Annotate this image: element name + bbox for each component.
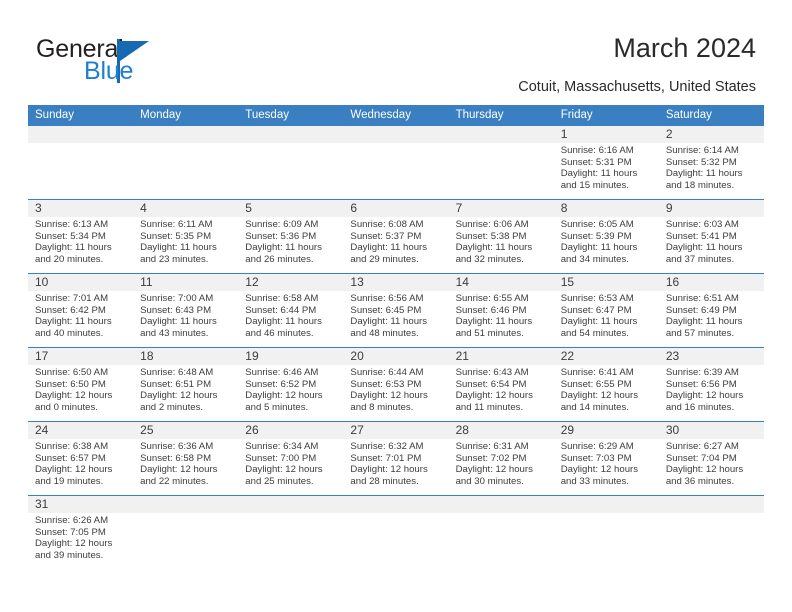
calendar-day-cell[interactable]: 16Sunrise: 6:51 AMSunset: 6:49 PMDayligh… [659,274,764,347]
calendar-day-cell[interactable]: 3Sunrise: 6:13 AMSunset: 5:34 PMDaylight… [28,200,133,273]
page-header: General Blue March 2024 Cotuit, Massachu… [0,0,792,104]
daylight-text: and 36 minutes. [666,476,758,488]
sunrise-text: Sunrise: 6:34 AM [245,441,337,453]
daylight-text: Daylight: 12 hours [350,464,442,476]
sunrise-text: Sunrise: 6:50 AM [35,367,127,379]
calendar-day-cell[interactable]: 23Sunrise: 6:39 AMSunset: 6:56 PMDayligh… [659,348,764,421]
daylight-text: and 14 minutes. [561,402,653,414]
daylight-text: and 18 minutes. [666,180,758,192]
day-number [140,496,232,513]
day-header-saturday: Saturday [659,105,764,126]
day-header-monday: Monday [133,105,238,126]
daylight-text: Daylight: 12 hours [350,390,442,402]
sunrise-text: Sunrise: 6:31 AM [456,441,548,453]
sunset-text: Sunset: 6:52 PM [245,379,337,391]
calendar-cell-empty [554,496,659,574]
sunset-text: Sunset: 5:41 PM [666,231,758,243]
daylight-text: and 15 minutes. [561,180,653,192]
daylight-text: and 19 minutes. [35,476,127,488]
sunset-text: Sunset: 6:45 PM [350,305,442,317]
sunset-text: Sunset: 6:43 PM [140,305,232,317]
day-number [456,496,548,513]
daylight-text: Daylight: 12 hours [245,464,337,476]
daylight-text: and 54 minutes. [561,328,653,340]
daylight-text: and 32 minutes. [456,254,548,266]
daylight-text: Daylight: 11 hours [350,242,442,254]
daylight-text: Daylight: 11 hours [666,316,758,328]
calendar-page: General Blue March 2024 Cotuit, Massachu… [0,0,792,612]
calendar-day-cell[interactable]: 30Sunrise: 6:27 AMSunset: 7:04 PMDayligh… [659,422,764,495]
sunrise-text: Sunrise: 7:00 AM [140,293,232,305]
sunset-text: Sunset: 5:32 PM [666,157,758,169]
daylight-text: Daylight: 11 hours [456,242,548,254]
calendar-cell-empty [343,496,448,574]
daylight-text: and 43 minutes. [140,328,232,340]
calendar-day-cell[interactable]: 14Sunrise: 6:55 AMSunset: 6:46 PMDayligh… [449,274,554,347]
daylight-text: Daylight: 11 hours [666,242,758,254]
daylight-text: and 5 minutes. [245,402,337,414]
sunset-text: Sunset: 6:53 PM [350,379,442,391]
sunset-text: Sunset: 6:47 PM [561,305,653,317]
sunrise-text: Sunrise: 6:13 AM [35,219,127,231]
sunrise-text: Sunrise: 6:43 AM [456,367,548,379]
day-number: 28 [456,422,548,439]
calendar-day-cell[interactable]: 9Sunrise: 6:03 AMSunset: 5:41 PMDaylight… [659,200,764,273]
daylight-text: Daylight: 11 hours [245,316,337,328]
calendar-day-cell[interactable]: 15Sunrise: 6:53 AMSunset: 6:47 PMDayligh… [554,274,659,347]
calendar-day-cell[interactable]: 28Sunrise: 6:31 AMSunset: 7:02 PMDayligh… [449,422,554,495]
daylight-text: and 8 minutes. [350,402,442,414]
calendar-day-cell[interactable]: 1Sunrise: 6:16 AMSunset: 5:31 PMDaylight… [554,126,659,199]
sunrise-text: Sunrise: 6:48 AM [140,367,232,379]
daylight-text: Daylight: 11 hours [35,242,127,254]
day-number: 25 [140,422,232,439]
general-blue-logo[interactable]: General Blue [36,36,236,88]
sunrise-text: Sunrise: 6:03 AM [666,219,758,231]
sunrise-text: Sunrise: 6:46 AM [245,367,337,379]
daylight-text: Daylight: 11 hours [561,316,653,328]
daylight-text: Daylight: 11 hours [350,316,442,328]
day-number: 30 [666,422,758,439]
daylight-text: and 51 minutes. [456,328,548,340]
sunset-text: Sunset: 6:58 PM [140,453,232,465]
sunset-text: Sunset: 7:03 PM [561,453,653,465]
sunrise-text: Sunrise: 6:32 AM [350,441,442,453]
sunset-text: Sunset: 6:56 PM [666,379,758,391]
day-number: 9 [666,200,758,217]
day-number: 22 [561,348,653,365]
sunset-text: Sunset: 7:01 PM [350,453,442,465]
day-number: 7 [456,200,548,217]
sunset-text: Sunset: 7:04 PM [666,453,758,465]
daylight-text: Daylight: 12 hours [666,390,758,402]
calendar-day-cell[interactable]: 5Sunrise: 6:09 AMSunset: 5:36 PMDaylight… [238,200,343,273]
day-number: 8 [561,200,653,217]
day-number [245,496,337,513]
day-number: 2 [666,126,758,143]
calendar-cell-empty [133,126,238,199]
calendar-day-cell[interactable]: 8Sunrise: 6:05 AMSunset: 5:39 PMDaylight… [554,200,659,273]
day-of-week-header-row: SundayMondayTuesdayWednesdayThursdayFrid… [28,105,764,126]
day-number: 12 [245,274,337,291]
calendar-week-row: 3Sunrise: 6:13 AMSunset: 5:34 PMDaylight… [28,199,764,273]
daylight-text: and 26 minutes. [245,254,337,266]
sunrise-text: Sunrise: 6:51 AM [666,293,758,305]
day-number [456,126,548,143]
daylight-text: and 33 minutes. [561,476,653,488]
day-number: 29 [561,422,653,439]
calendar-day-cell[interactable]: 17Sunrise: 6:50 AMSunset: 6:50 PMDayligh… [28,348,133,421]
daylight-text: Daylight: 12 hours [140,464,232,476]
day-number [666,496,758,513]
daylight-text: Daylight: 12 hours [561,390,653,402]
day-number: 18 [140,348,232,365]
sunrise-text: Sunrise: 6:27 AM [666,441,758,453]
sunrise-text: Sunrise: 6:06 AM [456,219,548,231]
calendar-weeks: 1Sunrise: 6:16 AMSunset: 5:31 PMDaylight… [28,126,764,574]
daylight-text: Daylight: 12 hours [456,390,548,402]
calendar-day-cell[interactable]: 27Sunrise: 6:32 AMSunset: 7:01 PMDayligh… [343,422,448,495]
calendar-day-cell[interactable]: 19Sunrise: 6:46 AMSunset: 6:52 PMDayligh… [238,348,343,421]
daylight-text: Daylight: 12 hours [35,464,127,476]
sunset-text: Sunset: 6:46 PM [456,305,548,317]
daylight-text: Daylight: 12 hours [140,390,232,402]
daylight-text: Daylight: 12 hours [35,390,127,402]
sunset-text: Sunset: 5:39 PM [561,231,653,243]
daylight-text: Daylight: 12 hours [35,538,127,550]
daylight-text: and 39 minutes. [35,550,127,562]
day-number: 5 [245,200,337,217]
day-number [35,126,127,143]
calendar-day-cell[interactable]: 2Sunrise: 6:14 AMSunset: 5:32 PMDaylight… [659,126,764,199]
sunrise-text: Sunrise: 6:11 AM [140,219,232,231]
sunrise-text: Sunrise: 6:53 AM [561,293,653,305]
daylight-text: Daylight: 11 hours [561,168,653,180]
sunset-text: Sunset: 6:50 PM [35,379,127,391]
sunset-text: Sunset: 6:51 PM [140,379,232,391]
calendar-cell-empty [449,496,554,574]
daylight-text: and 46 minutes. [245,328,337,340]
daylight-text: and 16 minutes. [666,402,758,414]
day-header-wednesday: Wednesday [343,105,448,126]
sunrise-text: Sunrise: 7:01 AM [35,293,127,305]
sunset-text: Sunset: 6:54 PM [456,379,548,391]
daylight-text: and 28 minutes. [350,476,442,488]
day-number: 15 [561,274,653,291]
calendar-day-cell[interactable]: 25Sunrise: 6:36 AMSunset: 6:58 PMDayligh… [133,422,238,495]
sunrise-text: Sunrise: 6:05 AM [561,219,653,231]
sunset-text: Sunset: 6:49 PM [666,305,758,317]
sunset-text: Sunset: 5:35 PM [140,231,232,243]
daylight-text: Daylight: 11 hours [140,242,232,254]
calendar-day-cell[interactable]: 18Sunrise: 6:48 AMSunset: 6:51 PMDayligh… [133,348,238,421]
sunrise-text: Sunrise: 6:58 AM [245,293,337,305]
calendar-day-cell[interactable]: 26Sunrise: 6:34 AMSunset: 7:00 PMDayligh… [238,422,343,495]
calendar-day-cell[interactable]: 29Sunrise: 6:29 AMSunset: 7:03 PMDayligh… [554,422,659,495]
calendar-day-cell[interactable]: 7Sunrise: 6:06 AMSunset: 5:38 PMDaylight… [449,200,554,273]
daylight-text: and 48 minutes. [350,328,442,340]
sunrise-text: Sunrise: 6:09 AM [245,219,337,231]
day-number: 23 [666,348,758,365]
daylight-text: Daylight: 11 hours [140,316,232,328]
sunrise-text: Sunrise: 6:55 AM [456,293,548,305]
calendar-cell-empty [133,496,238,574]
day-header-tuesday: Tuesday [238,105,343,126]
calendar-week-row: 1Sunrise: 6:16 AMSunset: 5:31 PMDaylight… [28,126,764,199]
calendar-day-cell[interactable]: 12Sunrise: 6:58 AMSunset: 6:44 PMDayligh… [238,274,343,347]
sunset-text: Sunset: 5:31 PM [561,157,653,169]
day-number: 11 [140,274,232,291]
day-number [561,496,653,513]
day-number: 6 [350,200,442,217]
daylight-text: and 29 minutes. [350,254,442,266]
daylight-text: and 30 minutes. [456,476,548,488]
daylight-text: and 25 minutes. [245,476,337,488]
sunset-text: Sunset: 5:38 PM [456,231,548,243]
sunset-text: Sunset: 6:55 PM [561,379,653,391]
daylight-text: and 20 minutes. [35,254,127,266]
sunrise-text: Sunrise: 6:36 AM [140,441,232,453]
sunset-text: Sunset: 7:00 PM [245,453,337,465]
day-number: 14 [456,274,548,291]
calendar-week-row: 10Sunrise: 7:01 AMSunset: 6:42 PMDayligh… [28,273,764,347]
daylight-text: and 0 minutes. [35,402,127,414]
sunrise-text: Sunrise: 6:38 AM [35,441,127,453]
calendar-day-cell[interactable]: 24Sunrise: 6:38 AMSunset: 6:57 PMDayligh… [28,422,133,495]
calendar-cell-empty [449,126,554,199]
sunset-text: Sunset: 6:42 PM [35,305,127,317]
day-number [245,126,337,143]
logo-text-blue: Blue [84,58,133,84]
sunrise-text: Sunrise: 6:16 AM [561,145,653,157]
calendar-cell-empty [238,126,343,199]
daylight-text: Daylight: 11 hours [35,316,127,328]
day-number: 4 [140,200,232,217]
day-number: 10 [35,274,127,291]
daylight-text: and 37 minutes. [666,254,758,266]
day-number: 1 [561,126,653,143]
sunrise-text: Sunrise: 6:26 AM [35,515,127,527]
calendar-week-row: 24Sunrise: 6:38 AMSunset: 6:57 PMDayligh… [28,421,764,495]
day-number: 19 [245,348,337,365]
day-number: 31 [35,496,127,513]
sunset-text: Sunset: 5:34 PM [35,231,127,243]
daylight-text: Daylight: 12 hours [561,464,653,476]
day-header-friday: Friday [554,105,659,126]
sunset-text: Sunset: 5:36 PM [245,231,337,243]
daylight-text: and 2 minutes. [140,402,232,414]
daylight-text: and 11 minutes. [456,402,548,414]
calendar-day-cell[interactable]: 6Sunrise: 6:08 AMSunset: 5:37 PMDaylight… [343,200,448,273]
sunset-text: Sunset: 7:02 PM [456,453,548,465]
sunrise-text: Sunrise: 6:41 AM [561,367,653,379]
calendar-week-row: 31Sunrise: 6:26 AMSunset: 7:05 PMDayligh… [28,495,764,574]
day-number: 3 [35,200,127,217]
sunrise-text: Sunrise: 6:14 AM [666,145,758,157]
calendar-cell-empty [659,496,764,574]
daylight-text: and 34 minutes. [561,254,653,266]
calendar-table: SundayMondayTuesdayWednesdayThursdayFrid… [28,105,764,574]
daylight-text: and 40 minutes. [35,328,127,340]
day-number: 16 [666,274,758,291]
day-number [140,126,232,143]
sunrise-text: Sunrise: 6:44 AM [350,367,442,379]
day-number [350,126,442,143]
sunrise-text: Sunrise: 6:08 AM [350,219,442,231]
daylight-text: Daylight: 11 hours [561,242,653,254]
daylight-text: Daylight: 11 hours [245,242,337,254]
day-number: 26 [245,422,337,439]
page-subtitle: Cotuit, Massachusetts, United States [518,79,756,95]
daylight-text: and 22 minutes. [140,476,232,488]
day-header-thursday: Thursday [449,105,554,126]
day-number [350,496,442,513]
day-header-sunday: Sunday [28,105,133,126]
sunset-text: Sunset: 7:05 PM [35,527,127,539]
day-number: 24 [35,422,127,439]
calendar-day-cell[interactable]: 22Sunrise: 6:41 AMSunset: 6:55 PMDayligh… [554,348,659,421]
daylight-text: Daylight: 11 hours [666,168,758,180]
daylight-text: Daylight: 12 hours [666,464,758,476]
calendar-week-row: 17Sunrise: 6:50 AMSunset: 6:50 PMDayligh… [28,347,764,421]
daylight-text: and 23 minutes. [140,254,232,266]
calendar-day-cell[interactable]: 4Sunrise: 6:11 AMSunset: 5:35 PMDaylight… [133,200,238,273]
page-title: March 2024 [613,33,756,64]
daylight-text: Daylight: 12 hours [245,390,337,402]
daylight-text: Daylight: 12 hours [456,464,548,476]
day-number: 27 [350,422,442,439]
sunset-text: Sunset: 6:57 PM [35,453,127,465]
day-number: 17 [35,348,127,365]
day-number: 13 [350,274,442,291]
calendar-cell-empty [238,496,343,574]
sunrise-text: Sunrise: 6:29 AM [561,441,653,453]
daylight-text: and 57 minutes. [666,328,758,340]
sunset-text: Sunset: 5:37 PM [350,231,442,243]
sunrise-text: Sunrise: 6:56 AM [350,293,442,305]
calendar-day-cell[interactable]: 10Sunrise: 7:01 AMSunset: 6:42 PMDayligh… [28,274,133,347]
calendar-day-cell[interactable]: 21Sunrise: 6:43 AMSunset: 6:54 PMDayligh… [449,348,554,421]
calendar-day-cell[interactable]: 11Sunrise: 7:00 AMSunset: 6:43 PMDayligh… [133,274,238,347]
sunset-text: Sunset: 6:44 PM [245,305,337,317]
calendar-day-cell[interactable]: 20Sunrise: 6:44 AMSunset: 6:53 PMDayligh… [343,348,448,421]
calendar-day-cell[interactable]: 13Sunrise: 6:56 AMSunset: 6:45 PMDayligh… [343,274,448,347]
daylight-text: Daylight: 11 hours [456,316,548,328]
calendar-cell-empty [343,126,448,199]
calendar-cell-empty [28,126,133,199]
calendar-day-cell[interactable]: 31Sunrise: 6:26 AMSunset: 7:05 PMDayligh… [28,496,133,574]
sunrise-text: Sunrise: 6:39 AM [666,367,758,379]
day-number: 21 [456,348,548,365]
day-number: 20 [350,348,442,365]
